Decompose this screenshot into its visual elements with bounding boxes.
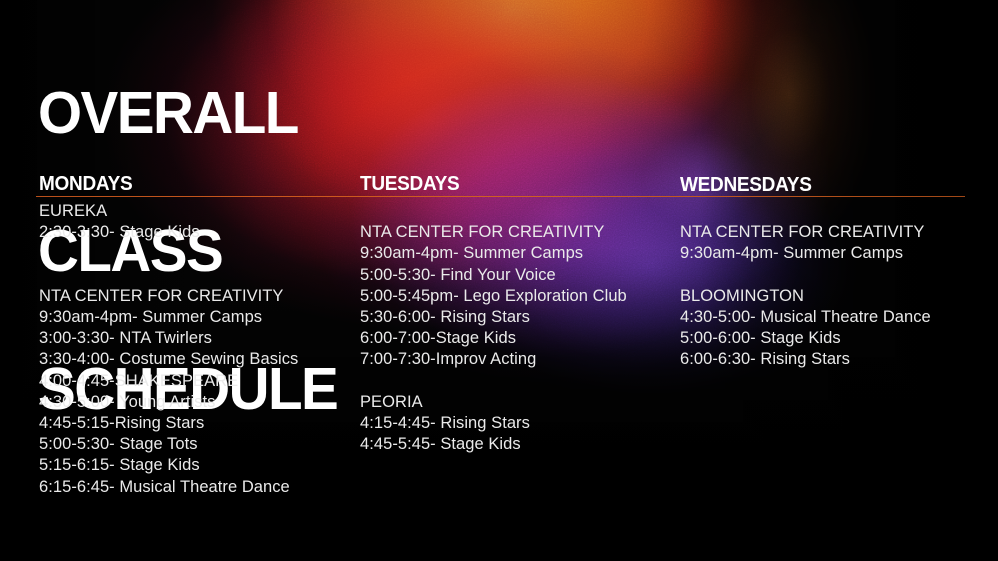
schedule-spacer bbox=[39, 243, 298, 264]
column-header-tuesdays: TUESDAYS bbox=[360, 173, 459, 196]
schedule-column-wednesdays: NTA CENTER FOR CREATIVITY9:30am-4pm- Sum… bbox=[680, 201, 931, 371]
schedule-line: 2:30-3:30- Stage Kids bbox=[39, 222, 298, 243]
schedule-spacer bbox=[360, 371, 627, 392]
schedule-line: 4:00-4:45-SHAKESPEARE bbox=[39, 371, 298, 392]
schedule-spacer bbox=[680, 201, 931, 222]
schedule-line: BLOOMINGTON bbox=[680, 286, 931, 307]
schedule-line: 5:15-6:15- Stage Kids bbox=[39, 455, 298, 476]
schedule-line: NTA CENTER FOR CREATIVITY bbox=[680, 222, 931, 243]
schedule-line: 4:30-5:00- Musical Theatre Dance bbox=[680, 307, 931, 328]
schedule-column-tuesdays: NTA CENTER FOR CREATIVITY9:30am-4pm- Sum… bbox=[360, 201, 627, 455]
schedule-line: NTA CENTER FOR CREATIVITY bbox=[360, 222, 627, 243]
schedule-line: NTA CENTER FOR CREATIVITY bbox=[39, 286, 298, 307]
schedule-line: 4:30-5:00- Young Artists bbox=[39, 392, 298, 413]
schedule-line: 9:30am-4pm- Summer Camps bbox=[360, 243, 627, 264]
schedule-column-mondays: EUREKA2:30-3:30- Stage Kids NTA CENTER F… bbox=[39, 201, 298, 498]
schedule-line: 3:00-3:30- NTA Twirlers bbox=[39, 328, 298, 349]
schedule-line: 5:00-5:30- Stage Tots bbox=[39, 434, 298, 455]
schedule-line: 3:30-4:00- Costume Sewing Basics bbox=[39, 349, 298, 370]
schedule-line: 5:00-6:00- Stage Kids bbox=[680, 328, 931, 349]
schedule-line: EUREKA bbox=[39, 201, 298, 222]
column-header-mondays: MONDAYS bbox=[39, 173, 132, 196]
header-divider-rule bbox=[36, 196, 965, 197]
schedule-line: 6:00-6:30- Rising Stars bbox=[680, 349, 931, 370]
schedule-spacer bbox=[680, 265, 931, 286]
title-line-1: OVERALL bbox=[38, 90, 537, 136]
schedule-line: 6:15-6:45- Musical Theatre Dance bbox=[39, 477, 298, 498]
slide-canvas: OVERALL CLASS SCHEDULE MONDAYS TUESDAYS … bbox=[0, 0, 998, 561]
schedule-line: 4:15-4:45- Rising Stars bbox=[360, 413, 627, 434]
schedule-line: 4:45-5:15-Rising Stars bbox=[39, 413, 298, 434]
schedule-line: PEORIA bbox=[360, 392, 627, 413]
column-header-wednesdays: WEDNESDAYS bbox=[680, 174, 812, 197]
schedule-line: 5:00-5:30- Find Your Voice bbox=[360, 265, 627, 286]
schedule-line: 4:45-5:45- Stage Kids bbox=[360, 434, 627, 455]
schedule-line: 7:00-7:30-Improv Acting bbox=[360, 349, 627, 370]
schedule-line: 9:30am-4pm- Summer Camps bbox=[680, 243, 931, 264]
schedule-line: 6:00-7:00-Stage Kids bbox=[360, 328, 627, 349]
schedule-line: 5:00-5:45pm- Lego Exploration Club bbox=[360, 286, 627, 307]
schedule-spacer bbox=[360, 201, 627, 222]
schedule-line: 5:30-6:00- Rising Stars bbox=[360, 307, 627, 328]
schedule-line: 9:30am-4pm- Summer Camps bbox=[39, 307, 298, 328]
schedule-spacer bbox=[39, 265, 298, 286]
